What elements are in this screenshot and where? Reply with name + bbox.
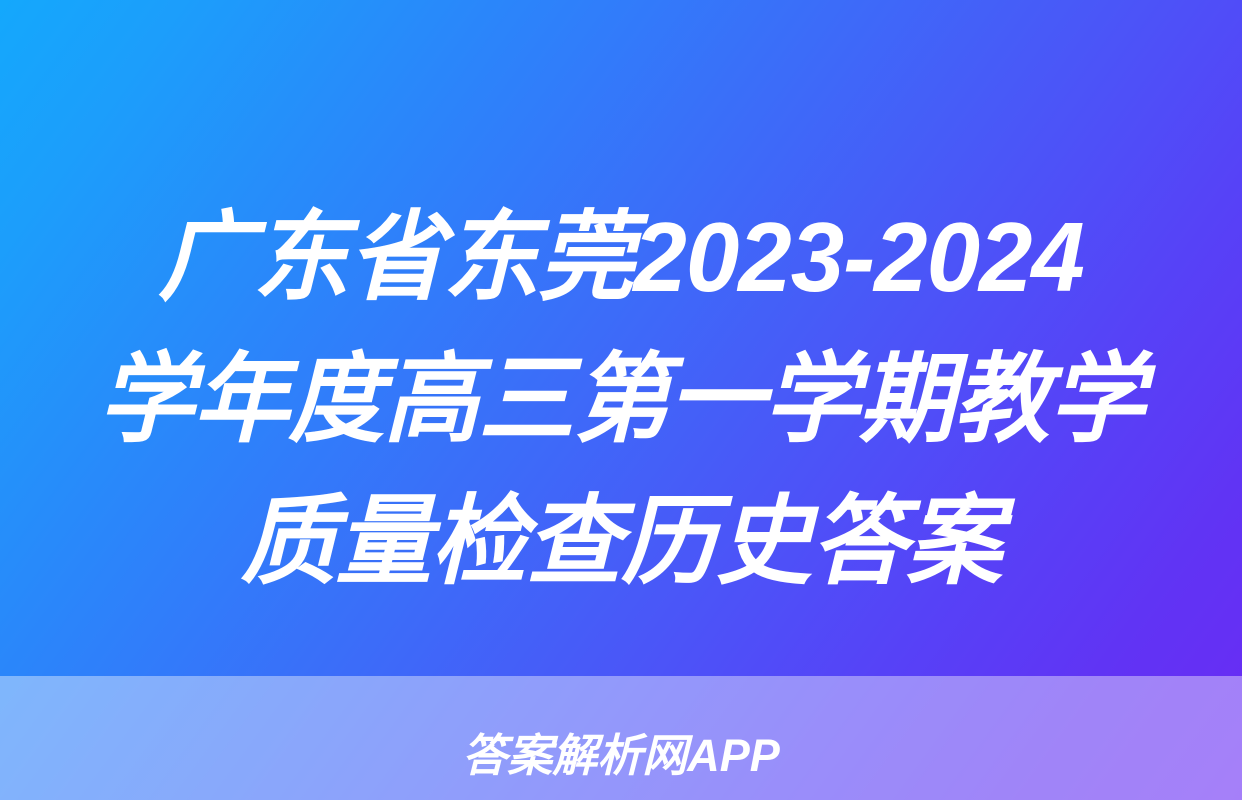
title-line-3: 质量检查历史答案 [40,470,1202,612]
poster-canvas: 广东省东莞2023-2024 学年度高三第一学期教学 质量检查历史答案 答案解析… [0,0,1242,800]
title-line-1: 广东省东莞2023-2024 [40,186,1202,328]
watermark-band: 答案解析网APP [0,676,1242,800]
watermark-app-label: 答案解析网APP [462,733,780,778]
page-title: 广东省东莞2023-2024 学年度高三第一学期教学 质量检查历史答案 [0,186,1242,612]
title-line-2: 学年度高三第一学期教学 [40,328,1202,470]
